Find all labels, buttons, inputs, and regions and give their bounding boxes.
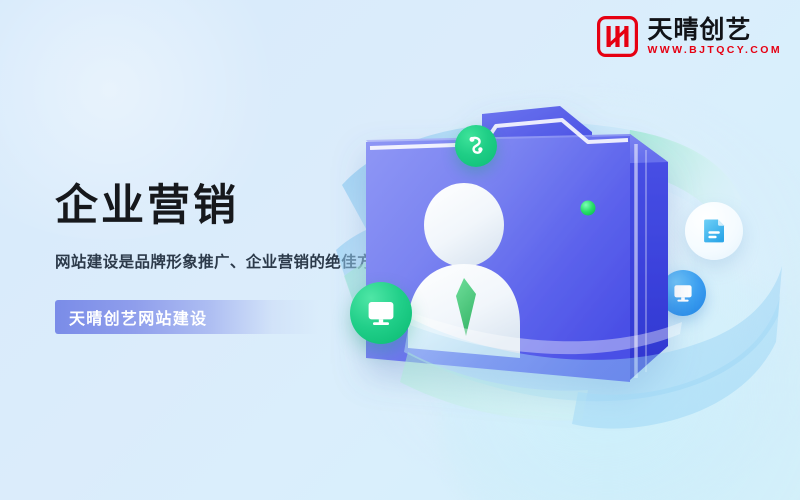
monitor-badge-green [350, 282, 412, 344]
spiral-icon [463, 133, 489, 159]
brand-logo[interactable]: 天晴创艺 WWW.BJTQCY.COM [597, 16, 782, 57]
hero-illustration [330, 90, 800, 490]
document-icon [699, 216, 729, 246]
tianqing-logo-mark-icon [597, 16, 638, 57]
logo-website-url: WWW.BJTQCY.COM [647, 45, 782, 56]
marketing-banner: 天晴创艺 WWW.BJTQCY.COM 企业营销 网站建设是品牌形象推广、企业营… [0, 0, 800, 500]
spiral-badge [455, 125, 497, 167]
monitor-icon [363, 295, 399, 331]
logo-text-group: 天晴创艺 WWW.BJTQCY.COM [647, 18, 782, 56]
document-badge [685, 202, 743, 260]
brand-tag-bar[interactable]: 天晴创艺网站建设 [55, 300, 320, 334]
brand-tag-label: 天晴创艺网站建设 [55, 305, 207, 329]
logo-company-name: 天晴创艺 [647, 18, 782, 43]
